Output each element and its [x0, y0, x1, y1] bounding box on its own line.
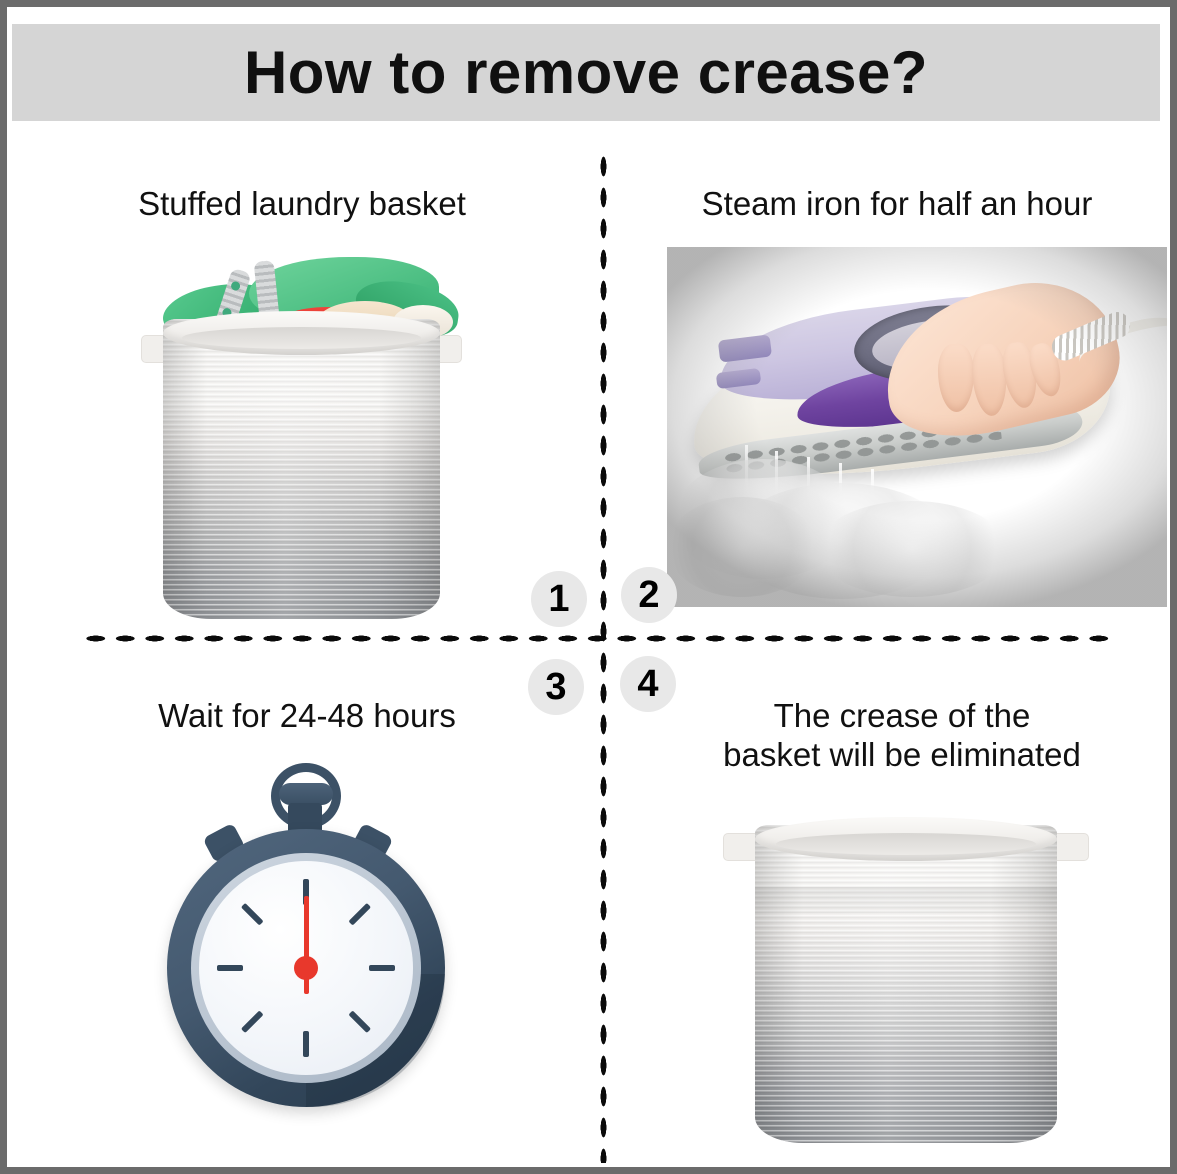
basket-rim-inner — [776, 833, 1036, 855]
stopwatch-crown — [279, 783, 333, 805]
step-4-caption-line-1: The crease of the — [652, 697, 1152, 736]
dial-tick — [348, 903, 371, 926]
strap-dot — [230, 280, 241, 291]
infographic-poster: How to remove crease? Stuffed laundry ba… — [0, 0, 1177, 1174]
dial-tick — [303, 1031, 309, 1057]
horizontal-dotted-divider — [81, 634, 1111, 643]
basket-rim-inner — [182, 327, 420, 349]
step-1-caption: Stuffed laundry basket — [37, 185, 567, 224]
basket-body — [163, 319, 440, 619]
basket-shading — [163, 319, 440, 619]
step-4-caption-line-2: basket will be eliminated — [652, 736, 1152, 775]
step-badge-2: 2 — [621, 567, 677, 623]
dial-tick — [348, 1010, 371, 1033]
step-badge-4: 4 — [620, 656, 676, 712]
stuffed-rope-basket — [163, 319, 440, 619]
vertical-dotted-divider — [599, 151, 608, 1163]
basket-upper-band — [755, 887, 1057, 913]
dial-tick — [217, 965, 243, 971]
step-badge-1: 1 — [531, 571, 587, 627]
image-vignette — [667, 247, 1167, 607]
steam-iron-illustration — [667, 247, 1167, 607]
stopwatch-face — [199, 861, 413, 1075]
dial-tick — [241, 903, 264, 926]
smooth-rope-basket — [755, 825, 1057, 1143]
step-3-caption: Wait for 24-48 hours — [47, 697, 567, 736]
basket-body — [755, 825, 1057, 1143]
step-4-caption: The crease of the basket will be elimina… — [652, 697, 1152, 775]
page-title: How to remove crease? — [244, 43, 928, 103]
dial-tick — [241, 1010, 264, 1033]
step-2-caption: Steam iron for half an hour — [637, 185, 1157, 224]
basket-shading — [755, 825, 1057, 1143]
dial-tick — [369, 965, 395, 971]
stopwatch-center-pin — [294, 956, 318, 980]
title-banner: How to remove crease? — [12, 24, 1160, 121]
stopwatch-icon — [145, 763, 451, 1139]
step-badge-3: 3 — [528, 659, 584, 715]
